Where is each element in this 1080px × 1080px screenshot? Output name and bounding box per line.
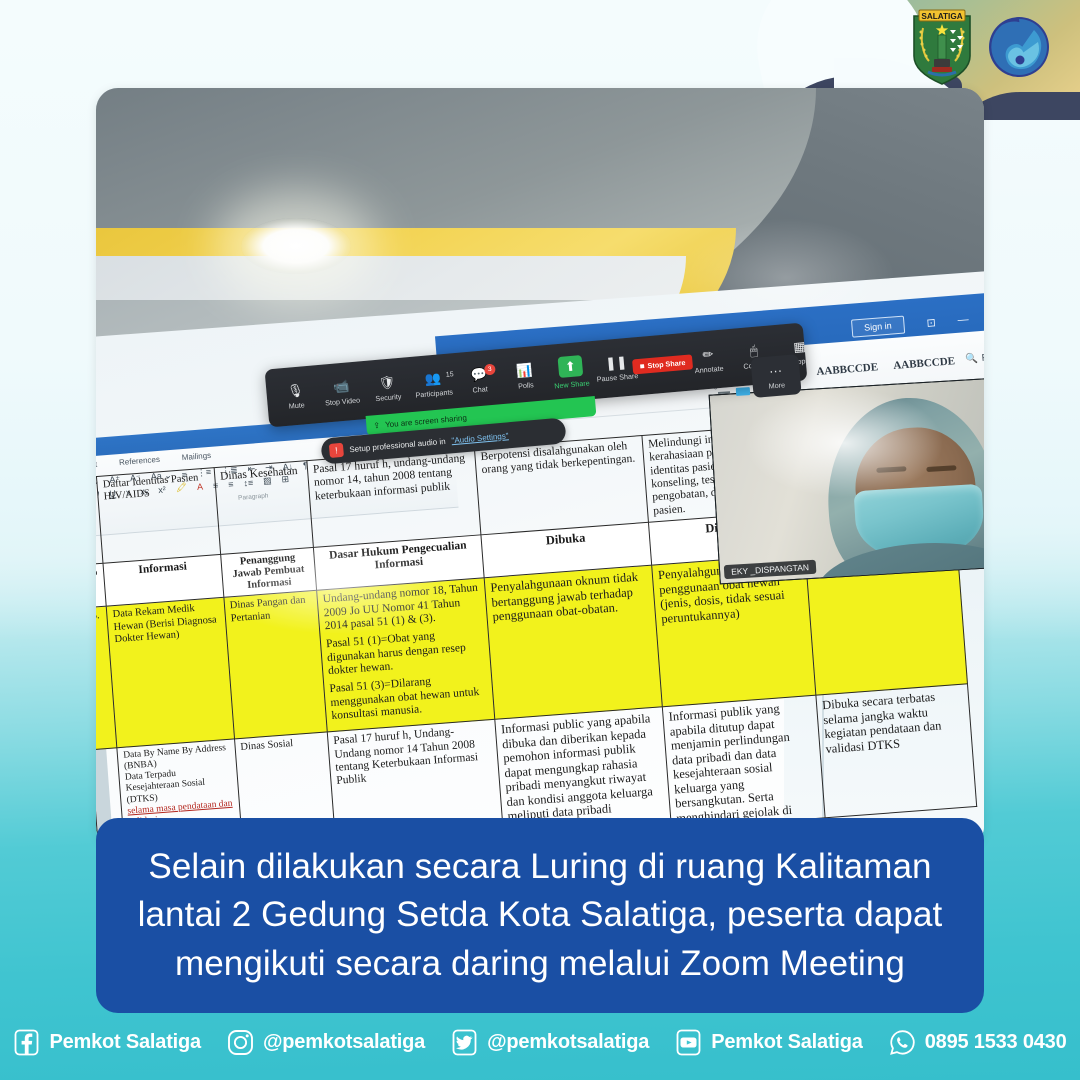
dasar-hukum-p2: Pasal 51 (1)=Obat yang digunakan harus d… (326, 627, 486, 679)
event-photo: yout References Mailings 12 ⌄ A⁺ A⁻ Aa ⌄… (96, 88, 984, 848)
social-youtube[interactable]: Pemkot Salatiga (675, 1029, 863, 1056)
word-tab-layout[interactable]: yout (96, 460, 98, 470)
facebook-icon (13, 1029, 40, 1056)
chat-unread-badge: 3 (484, 363, 496, 375)
whatsapp-icon (889, 1029, 916, 1056)
caption-line-2: lantai 2 Gedung Setda Kota Salatiga, pes… (138, 893, 943, 937)
zoom-polls-button[interactable]: 📊 Polls (501, 359, 550, 394)
youtube-icon (675, 1029, 702, 1056)
stop-square-icon: ■ Stop Share (632, 354, 693, 374)
twitter-icon (451, 1029, 478, 1056)
share-active-icon: ⇪ (373, 420, 380, 430)
participants-count: 15 (446, 371, 454, 379)
zoom-security-label: Security (375, 391, 402, 402)
dasar-hukum-p3: Pasal 51 (3)=Dilarang menggunakan obat h… (329, 672, 489, 724)
zoom-chat-label: Chat (472, 384, 488, 394)
photo-glare-mid (216, 543, 456, 633)
zoom-pause-share-label: Pause Share (596, 371, 638, 384)
kominfo-logo (988, 16, 1050, 78)
logo-group: SALATIGA (910, 8, 1050, 86)
cell-dibuka: Berpotensi disalahgunakan oleh orang yan… (474, 435, 648, 534)
search-icon: 🔍 (965, 353, 978, 365)
zoom-chat-button[interactable]: 💬 3 Chat (455, 363, 504, 398)
remote-control-icon: 🖱 (749, 342, 758, 358)
caption-banner: Selain dilakukan secara Luring di ruang … (96, 818, 984, 1013)
cell-penanggung-jawab: Dinas Kesehatan (214, 461, 313, 555)
word-sign-in-button[interactable]: Sign in (850, 316, 905, 338)
style-item[interactable]: AABBCCDE (811, 359, 879, 380)
cell-informasi: Daftar Identitas Pasien HIV/AIDS (97, 468, 221, 564)
zoom-stop-share-label: Stop Share (647, 357, 686, 369)
caption-line-1: Selain dilakukan secara Luring di ruang … (148, 845, 931, 889)
social-instagram[interactable]: @pemkotsalatiga (227, 1029, 425, 1056)
shield-icon: 🛡 (378, 374, 396, 390)
youtube-label: Pemkot Salatiga (711, 1031, 863, 1054)
zoom-annotate-button[interactable]: ✏ Annotate (684, 342, 733, 377)
svg-text:SALATIGA: SALATIGA (921, 12, 962, 21)
style-sample: AABBCCDE (816, 361, 874, 377)
zoom-mute-label: Mute (288, 400, 305, 410)
pencil-icon: ✏ (702, 346, 714, 362)
share-screen-icon: ⬆ (557, 354, 584, 377)
social-whatsapp[interactable]: 0895 1533 0430 (889, 1029, 1067, 1056)
zoom-participants-label: Participants (415, 387, 453, 399)
zoom-polls-label: Polls (518, 380, 534, 390)
zoom-participants-button[interactable]: 👥 15 Participants (409, 367, 458, 402)
instagram-icon (227, 1029, 254, 1056)
video-camera-icon: 📹 (333, 378, 350, 394)
cell-dibuka: Penyalahgunaan oknum tidak bertanggung j… (484, 566, 662, 720)
salatiga-city-crest: SALATIGA (910, 8, 974, 86)
style-item[interactable]: AABBCCDE (888, 353, 956, 374)
zoom-new-share-button[interactable]: ⬆ New Share (546, 352, 595, 393)
facebook-label: Pemkot Salatiga (49, 1031, 201, 1054)
audio-alert-icon: ! (329, 443, 344, 458)
cell-ditutup: Informasi publik yang apabila ditutup da… (662, 696, 825, 830)
find-label: Find (981, 352, 984, 364)
ceiling-downlight (241, 218, 351, 274)
zoom-stop-video-label: Stop Video (325, 395, 361, 407)
photo-glare-right (744, 388, 944, 498)
pause-icon: ❚❚ (605, 354, 628, 371)
cell-jangka-waktu: Dibuka secara terbatas selama jangka wak… (816, 684, 977, 818)
upload-arrow-icon: ⬆ (564, 358, 576, 374)
whatsapp-label: 0895 1533 0430 (925, 1031, 1067, 1054)
style-sample: AABBCCDE (893, 355, 951, 371)
zoom-new-share-label: New Share (554, 378, 590, 390)
social-twitter[interactable]: @pemkotsalatiga (451, 1029, 649, 1056)
microphone-icon: 🎙 (287, 382, 305, 398)
participants-icon: 👥 (424, 370, 441, 386)
zoom-mute-button[interactable]: 🎙 Mute (272, 379, 321, 414)
audio-toast-text: Setup professional audio in (349, 436, 446, 453)
ellipsis-icon: ··· (768, 362, 782, 378)
ribbon-display-options-icon[interactable]: ⊡ (926, 316, 936, 330)
zoom-stop-share-button[interactable]: ■ Stop Share (639, 352, 686, 375)
audio-settings-link[interactable]: "Audio Settings" (451, 431, 509, 445)
zoom-annotate-label: Annotate (694, 363, 723, 374)
minimize-tile-icon[interactable] (718, 391, 730, 394)
minimize-icon[interactable]: — (957, 314, 969, 327)
poll-bars-icon: 📊 (516, 362, 533, 378)
zoom-stop-video-button[interactable]: 📹 Stop Video (317, 375, 366, 410)
social-facebook[interactable]: Pemkot Salatiga (13, 1029, 201, 1056)
zoom-security-button[interactable]: 🛡 Security (363, 371, 412, 406)
instagram-label: @pemkotsalatiga (263, 1031, 425, 1054)
caption-line-3: mengikuti secara daring melalui Zoom Mee… (175, 942, 905, 986)
twitter-label: @pemkotsalatiga (487, 1031, 649, 1054)
social-media-footer: Pemkot Salatiga @pemkotsalatiga @pemkots… (0, 1018, 1080, 1066)
word-find-button[interactable]: 🔍 Find ⌄ (965, 351, 984, 366)
